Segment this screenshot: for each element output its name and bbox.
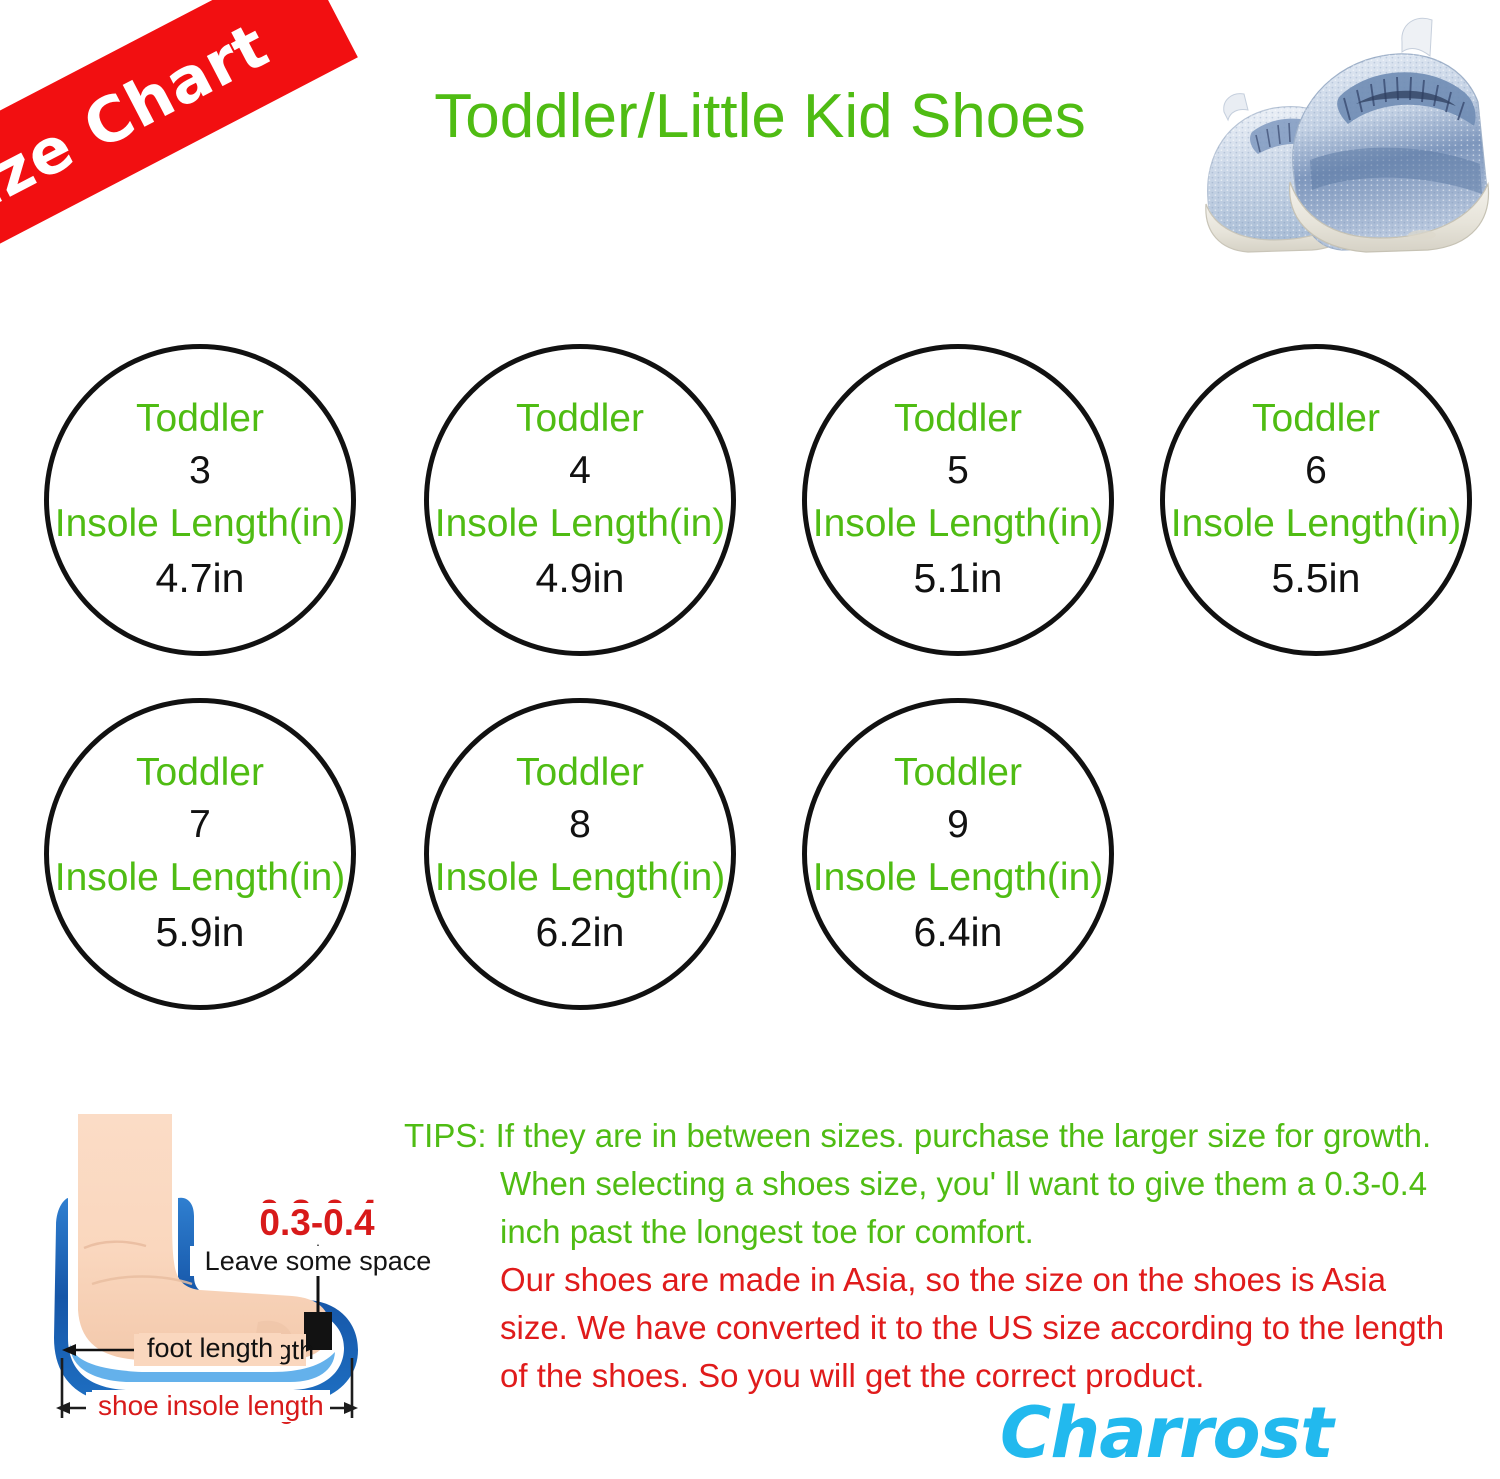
size-circle-size: 9 bbox=[947, 798, 969, 852]
size-circle-grid: Toddler 3 Insole Length(in) 4.7in Toddle… bbox=[0, 0, 1500, 1080]
size-circle[interactable]: Toddler 6 Insole Length(in) 5.5in bbox=[1160, 344, 1472, 656]
gap-value-label: 0.3-0.4 bbox=[217, 1203, 417, 1243]
foot-length-label: foot length bbox=[139, 1333, 281, 1363]
size-circle-size: 7 bbox=[189, 798, 211, 852]
tips-block: TIPS: If they are in between sizes. purc… bbox=[404, 1112, 1489, 1400]
size-circle[interactable]: Toddler 8 Insole Length(in) 6.2in bbox=[424, 698, 736, 1010]
size-circle-unit: Insole Length(in) bbox=[55, 852, 346, 904]
size-circle-label: Toddler bbox=[516, 394, 644, 444]
size-circle-label: Toddler bbox=[136, 394, 264, 444]
tips-line: inch past the longest toe for comfort. bbox=[404, 1208, 1489, 1256]
size-circle[interactable]: Toddler 4 Insole Length(in) 4.9in bbox=[424, 344, 736, 656]
size-circle-value: 6.4in bbox=[914, 904, 1003, 960]
size-circle-value: 5.5in bbox=[1272, 550, 1361, 606]
size-circle-value: 4.7in bbox=[156, 550, 245, 606]
size-circle-value: 6.2in bbox=[536, 904, 625, 960]
size-circle-unit: Insole Length(in) bbox=[1171, 498, 1462, 550]
size-circle-label: Toddler bbox=[136, 748, 264, 798]
size-circle-unit: Insole Length(in) bbox=[813, 498, 1104, 550]
size-circle-label: Toddler bbox=[516, 748, 644, 798]
size-circle[interactable]: Toddler 3 Insole Length(in) 4.7in bbox=[44, 344, 356, 656]
size-circle-unit: Insole Length(in) bbox=[55, 498, 346, 550]
size-circle-label: Toddler bbox=[894, 748, 1022, 798]
size-circle-unit: Insole Length(in) bbox=[435, 498, 726, 550]
size-circle-value: 5.1in bbox=[914, 550, 1003, 606]
tips-line: TIPS: If they are in between sizes. purc… bbox=[404, 1112, 1489, 1160]
size-circle-unit: Insole Length(in) bbox=[435, 852, 726, 904]
size-circle-unit: Insole Length(in) bbox=[813, 852, 1104, 904]
disclaimer-line: size. We have converted it to the US siz… bbox=[404, 1304, 1489, 1352]
size-circle-size: 4 bbox=[569, 444, 591, 498]
size-circle-size: 5 bbox=[947, 444, 969, 498]
size-circle-label: Toddler bbox=[894, 394, 1022, 444]
brand-logo: Charrost bbox=[1000, 1392, 1333, 1474]
size-circle-size: 6 bbox=[1305, 444, 1327, 498]
size-circle[interactable]: Toddler 9 Insole Length(in) 6.4in bbox=[802, 698, 1114, 1010]
size-circle-size: 3 bbox=[189, 444, 211, 498]
size-circle-label: Toddler bbox=[1252, 394, 1380, 444]
size-chart-page: Size Chart Toddler/Little Kid Shoes bbox=[0, 0, 1500, 1479]
foot-measure-diagram: 0.3-0.4 Leave some space foot length sho… bbox=[22, 1098, 422, 1438]
size-circle[interactable]: Toddler 5 Insole Length(in) 5.1in bbox=[802, 344, 1114, 656]
disclaimer-line: Our shoes are made in Asia, so the size … bbox=[404, 1256, 1489, 1304]
size-circle-value: 5.9in bbox=[156, 904, 245, 960]
size-circle[interactable]: Toddler 7 Insole Length(in) 5.9in bbox=[44, 698, 356, 1010]
insole-length-label: shoe insole length bbox=[92, 1390, 330, 1422]
size-circle-value: 4.9in bbox=[536, 550, 625, 606]
tips-line: When selecting a shoes size, you' ll wan… bbox=[404, 1160, 1489, 1208]
size-circle-size: 8 bbox=[569, 798, 591, 852]
